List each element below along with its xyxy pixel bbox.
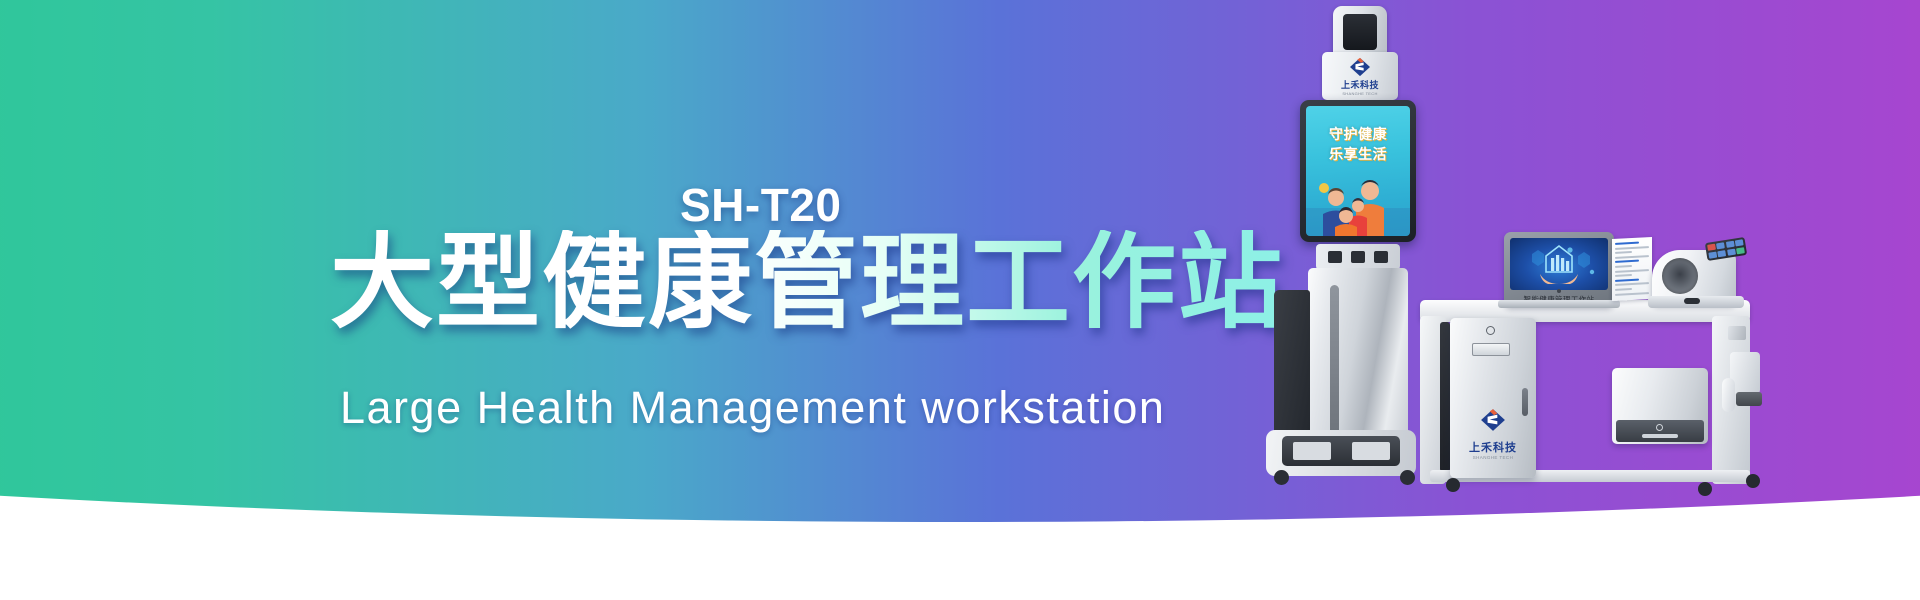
product-banner: SH-T20 大型健康管理工作站 Large Health Management… bbox=[0, 0, 1920, 600]
desk-monitor-stand bbox=[1498, 300, 1620, 308]
desk-monitor[interactable]: 智能健康管理工作站 bbox=[1504, 232, 1614, 306]
desk-caster-right bbox=[1746, 474, 1760, 488]
page-title: 大型健康管理工作站 bbox=[330, 230, 1284, 336]
report-line bbox=[1615, 282, 1649, 286]
report-line bbox=[1615, 269, 1649, 273]
keypad-key[interactable] bbox=[1726, 241, 1735, 248]
keypad-key[interactable] bbox=[1718, 250, 1727, 257]
report-line bbox=[1615, 288, 1632, 291]
report-line bbox=[1615, 292, 1649, 296]
desk-side-probe-cylinder bbox=[1722, 378, 1735, 412]
kiosk-camera-lens bbox=[1343, 14, 1377, 50]
report-line bbox=[1615, 251, 1632, 254]
report-line bbox=[1615, 246, 1649, 250]
desk-monitor-screen[interactable] bbox=[1510, 238, 1608, 290]
report-line bbox=[1615, 278, 1639, 281]
kiosk-brand-plate: 上禾科技 SHANGHE TECH bbox=[1322, 52, 1398, 100]
kiosk-caster-left bbox=[1274, 470, 1289, 485]
cabinet-card-tray[interactable] bbox=[1472, 343, 1510, 356]
cabinet-power-icon bbox=[1486, 326, 1495, 335]
kiosk-brand-name-en: SHANGHE TECH bbox=[1342, 91, 1377, 96]
kiosk-panel-button-2[interactable] bbox=[1351, 251, 1365, 263]
printer-power-icon bbox=[1656, 424, 1663, 431]
kiosk-panel-button-1[interactable] bbox=[1328, 251, 1342, 263]
kiosk-control-panel[interactable] bbox=[1316, 244, 1400, 270]
keypad-key[interactable] bbox=[1708, 251, 1717, 258]
keypad-key[interactable] bbox=[1716, 242, 1725, 249]
keypad-key[interactable] bbox=[1736, 247, 1745, 254]
report-line bbox=[1615, 255, 1649, 259]
kiosk-display-bezel: 守护健康 乐享生活 bbox=[1300, 100, 1416, 242]
kiosk-panel-button-3[interactable] bbox=[1374, 251, 1388, 263]
family-illustration-icon bbox=[1306, 174, 1410, 236]
desk-monitor-camera-icon bbox=[1557, 289, 1561, 293]
shanghe-logo-icon bbox=[1349, 57, 1371, 77]
printed-report-sheet bbox=[1612, 237, 1652, 301]
keypad-key[interactable] bbox=[1727, 248, 1736, 255]
report-line bbox=[1615, 274, 1632, 277]
desk-side-clip bbox=[1736, 392, 1762, 406]
blood-pressure-keypad[interactable] bbox=[1705, 237, 1747, 261]
blood-pressure-cuff-opening bbox=[1662, 258, 1698, 294]
report-line bbox=[1615, 265, 1632, 268]
printer-paper-slot bbox=[1642, 434, 1678, 438]
kiosk-screen-headline-2: 乐享生活 bbox=[1306, 144, 1410, 164]
desk-caster-mid bbox=[1698, 482, 1712, 496]
health-hands-icon bbox=[1510, 238, 1608, 290]
kiosk-brand-name-cn: 上禾科技 bbox=[1341, 78, 1379, 91]
kiosk-screen-headline-1: 守护健康 bbox=[1306, 124, 1410, 144]
kiosk-height-measure-slot bbox=[1330, 285, 1339, 435]
foot-pad-left bbox=[1293, 442, 1331, 460]
desk-caster-left bbox=[1446, 478, 1460, 492]
desk-frame-accent bbox=[1440, 322, 1450, 472]
kiosk-foot-scale-plate[interactable] bbox=[1282, 436, 1400, 466]
product-illustration: 上禾科技 SHANGHE TECH 守护健康 乐享生活 bbox=[1260, 0, 1920, 600]
report-line bbox=[1615, 242, 1639, 245]
keypad-key[interactable] bbox=[1735, 239, 1744, 246]
cabinet-brand-name-en: SHANGHE TECH bbox=[1456, 455, 1530, 460]
kiosk-caster-right bbox=[1400, 470, 1415, 485]
page-subtitle: Large Health Management workstation bbox=[340, 382, 1165, 434]
cabinet-brand-plate: 上禾科技 SHANGHE TECH bbox=[1456, 408, 1530, 460]
shanghe-logo-icon bbox=[1480, 408, 1506, 432]
cabinet-brand-name-cn: 上禾科技 bbox=[1456, 439, 1530, 455]
blood-pressure-monitor-pad bbox=[1684, 298, 1700, 304]
report-line bbox=[1615, 260, 1639, 263]
foot-pad-right bbox=[1352, 442, 1390, 460]
keypad-key[interactable] bbox=[1707, 244, 1716, 251]
product-model-code: SH-T20 bbox=[680, 178, 841, 232]
kiosk-display-screen[interactable]: 守护健康 乐享生活 bbox=[1306, 106, 1410, 236]
desk-side-bracket bbox=[1728, 326, 1746, 340]
